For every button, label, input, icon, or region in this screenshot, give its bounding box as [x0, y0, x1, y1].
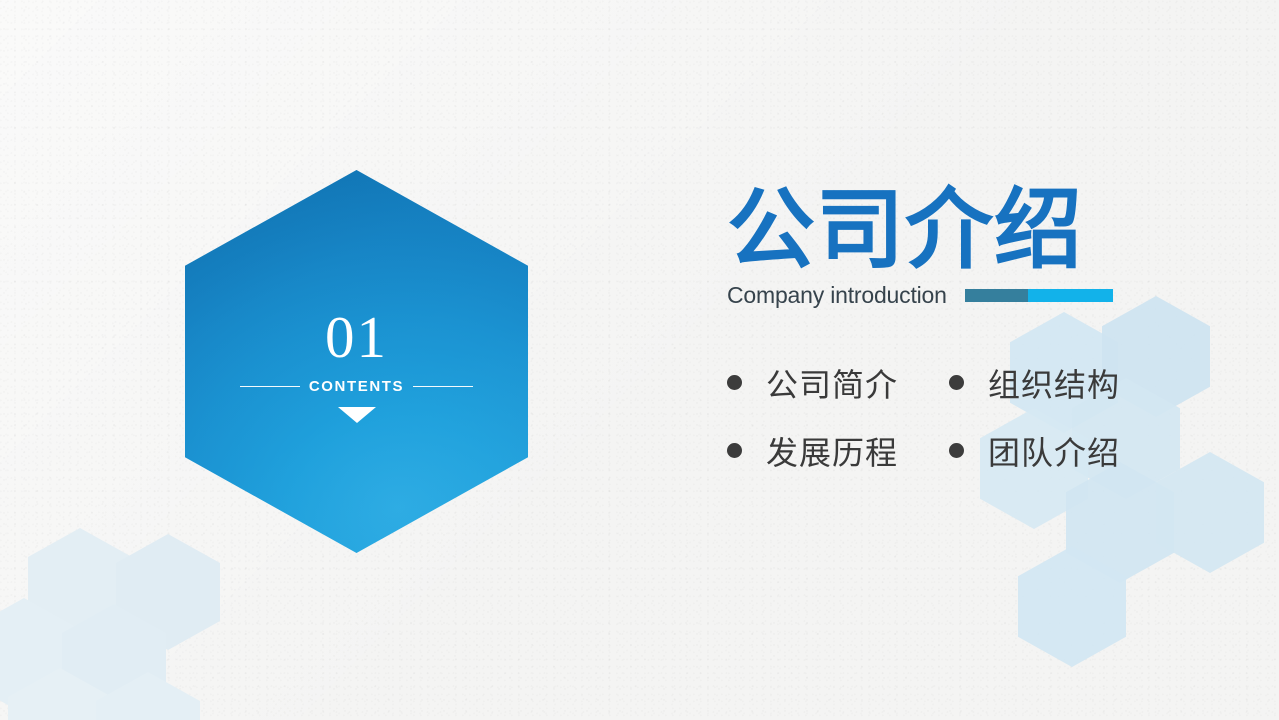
- list-item[interactable]: 公司简介: [727, 360, 949, 406]
- presentation-slide: 01 CONTENTS 公司介绍 Company introduction 公司…: [0, 0, 1279, 720]
- agenda-item-label: 公司简介: [766, 360, 898, 406]
- decorative-hexagon: [28, 528, 132, 644]
- decorative-hexagon: [1066, 462, 1174, 583]
- agenda-item-label: 发展历程: [766, 428, 898, 474]
- decorative-hexagon: [8, 668, 112, 720]
- caret-down-icon: [338, 407, 376, 423]
- decorative-hexagon: [96, 672, 200, 720]
- contents-label-row: CONTENTS: [240, 378, 473, 395]
- bullet-dot-icon: [949, 375, 964, 390]
- list-item[interactable]: 组织结构: [949, 360, 1197, 406]
- agenda-item-label: 团队介绍: [988, 428, 1120, 474]
- accent-bar-light-segment: [1028, 289, 1113, 302]
- bullet-dot-icon: [949, 443, 964, 458]
- rule-right: [413, 386, 473, 387]
- list-item[interactable]: 发展历程: [727, 428, 949, 474]
- subtitle-row: Company introduction: [727, 284, 1197, 308]
- decorative-hexagon: [1018, 546, 1126, 667]
- decorative-hexagon: [0, 598, 76, 714]
- contents-label: CONTENTS: [309, 378, 404, 395]
- section-number: 01: [325, 308, 388, 367]
- list-item[interactable]: 团队介绍: [949, 428, 1197, 474]
- bullet-dot-icon: [727, 443, 742, 458]
- page-title: 公司介绍: [727, 185, 1197, 275]
- agenda-list: 公司简介 组织结构 发展历程 团队介绍: [727, 360, 1197, 474]
- slide-content: 公司介绍 Company introduction 公司简介 组织结构 发展历程: [727, 185, 1197, 474]
- accent-bar-dark-segment: [965, 289, 1028, 302]
- agenda-item-label: 组织结构: [988, 360, 1120, 406]
- rule-left: [240, 386, 300, 387]
- hexagon-content: 01 CONTENTS: [185, 170, 528, 553]
- bullet-dot-icon: [727, 375, 742, 390]
- decorative-hexagon: [62, 604, 166, 720]
- page-subtitle: Company introduction: [727, 282, 947, 309]
- accent-bar: [965, 289, 1113, 302]
- section-number-hexagon[interactable]: 01 CONTENTS: [185, 170, 528, 553]
